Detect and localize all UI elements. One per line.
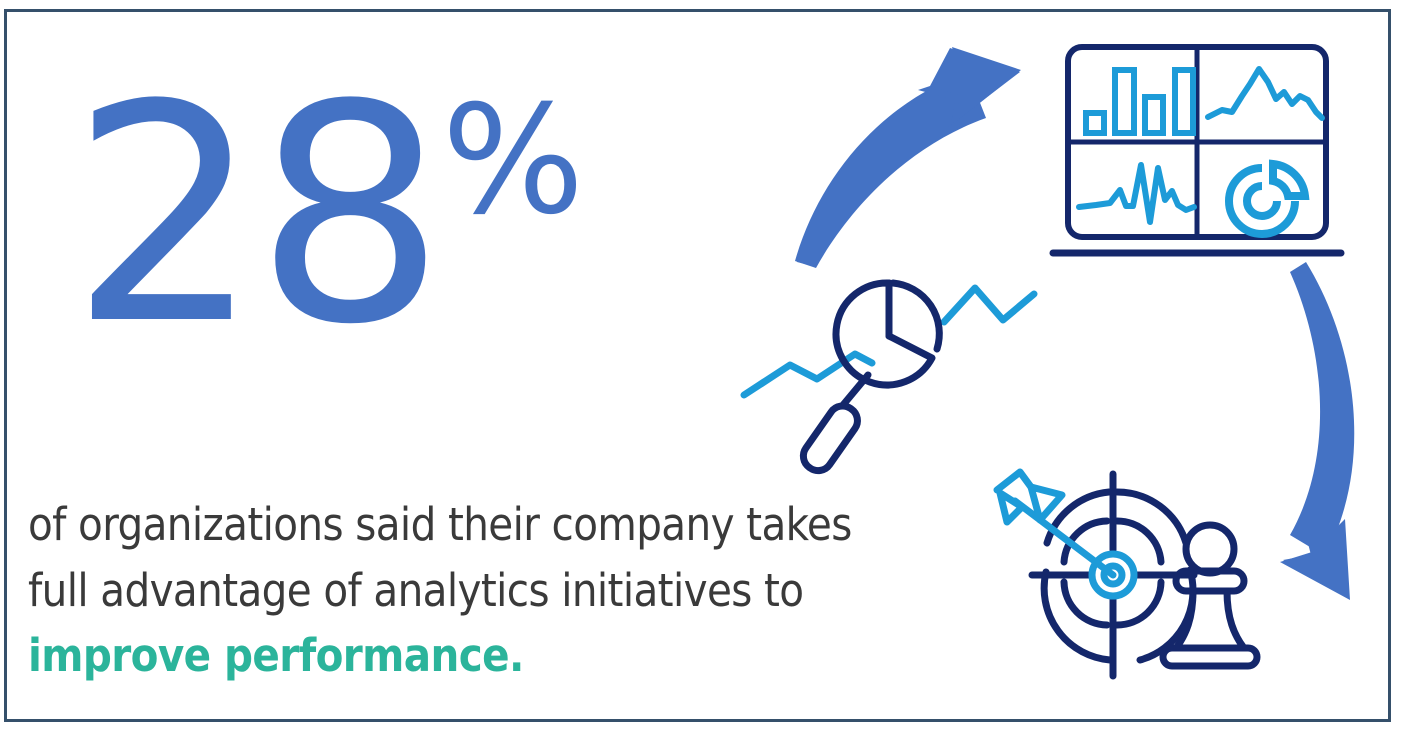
statement-emphasis: improve performance. xyxy=(28,629,524,682)
stat-number: 28 xyxy=(70,78,440,354)
stat-block: 28 % xyxy=(70,78,584,354)
statement-lead: of organizations said their company take… xyxy=(28,498,852,617)
statement-text: of organizations said their company take… xyxy=(28,492,908,689)
stat-percent-symbol: % xyxy=(442,86,585,236)
infographic-canvas: 28 % of organizations said their company… xyxy=(0,0,1403,735)
